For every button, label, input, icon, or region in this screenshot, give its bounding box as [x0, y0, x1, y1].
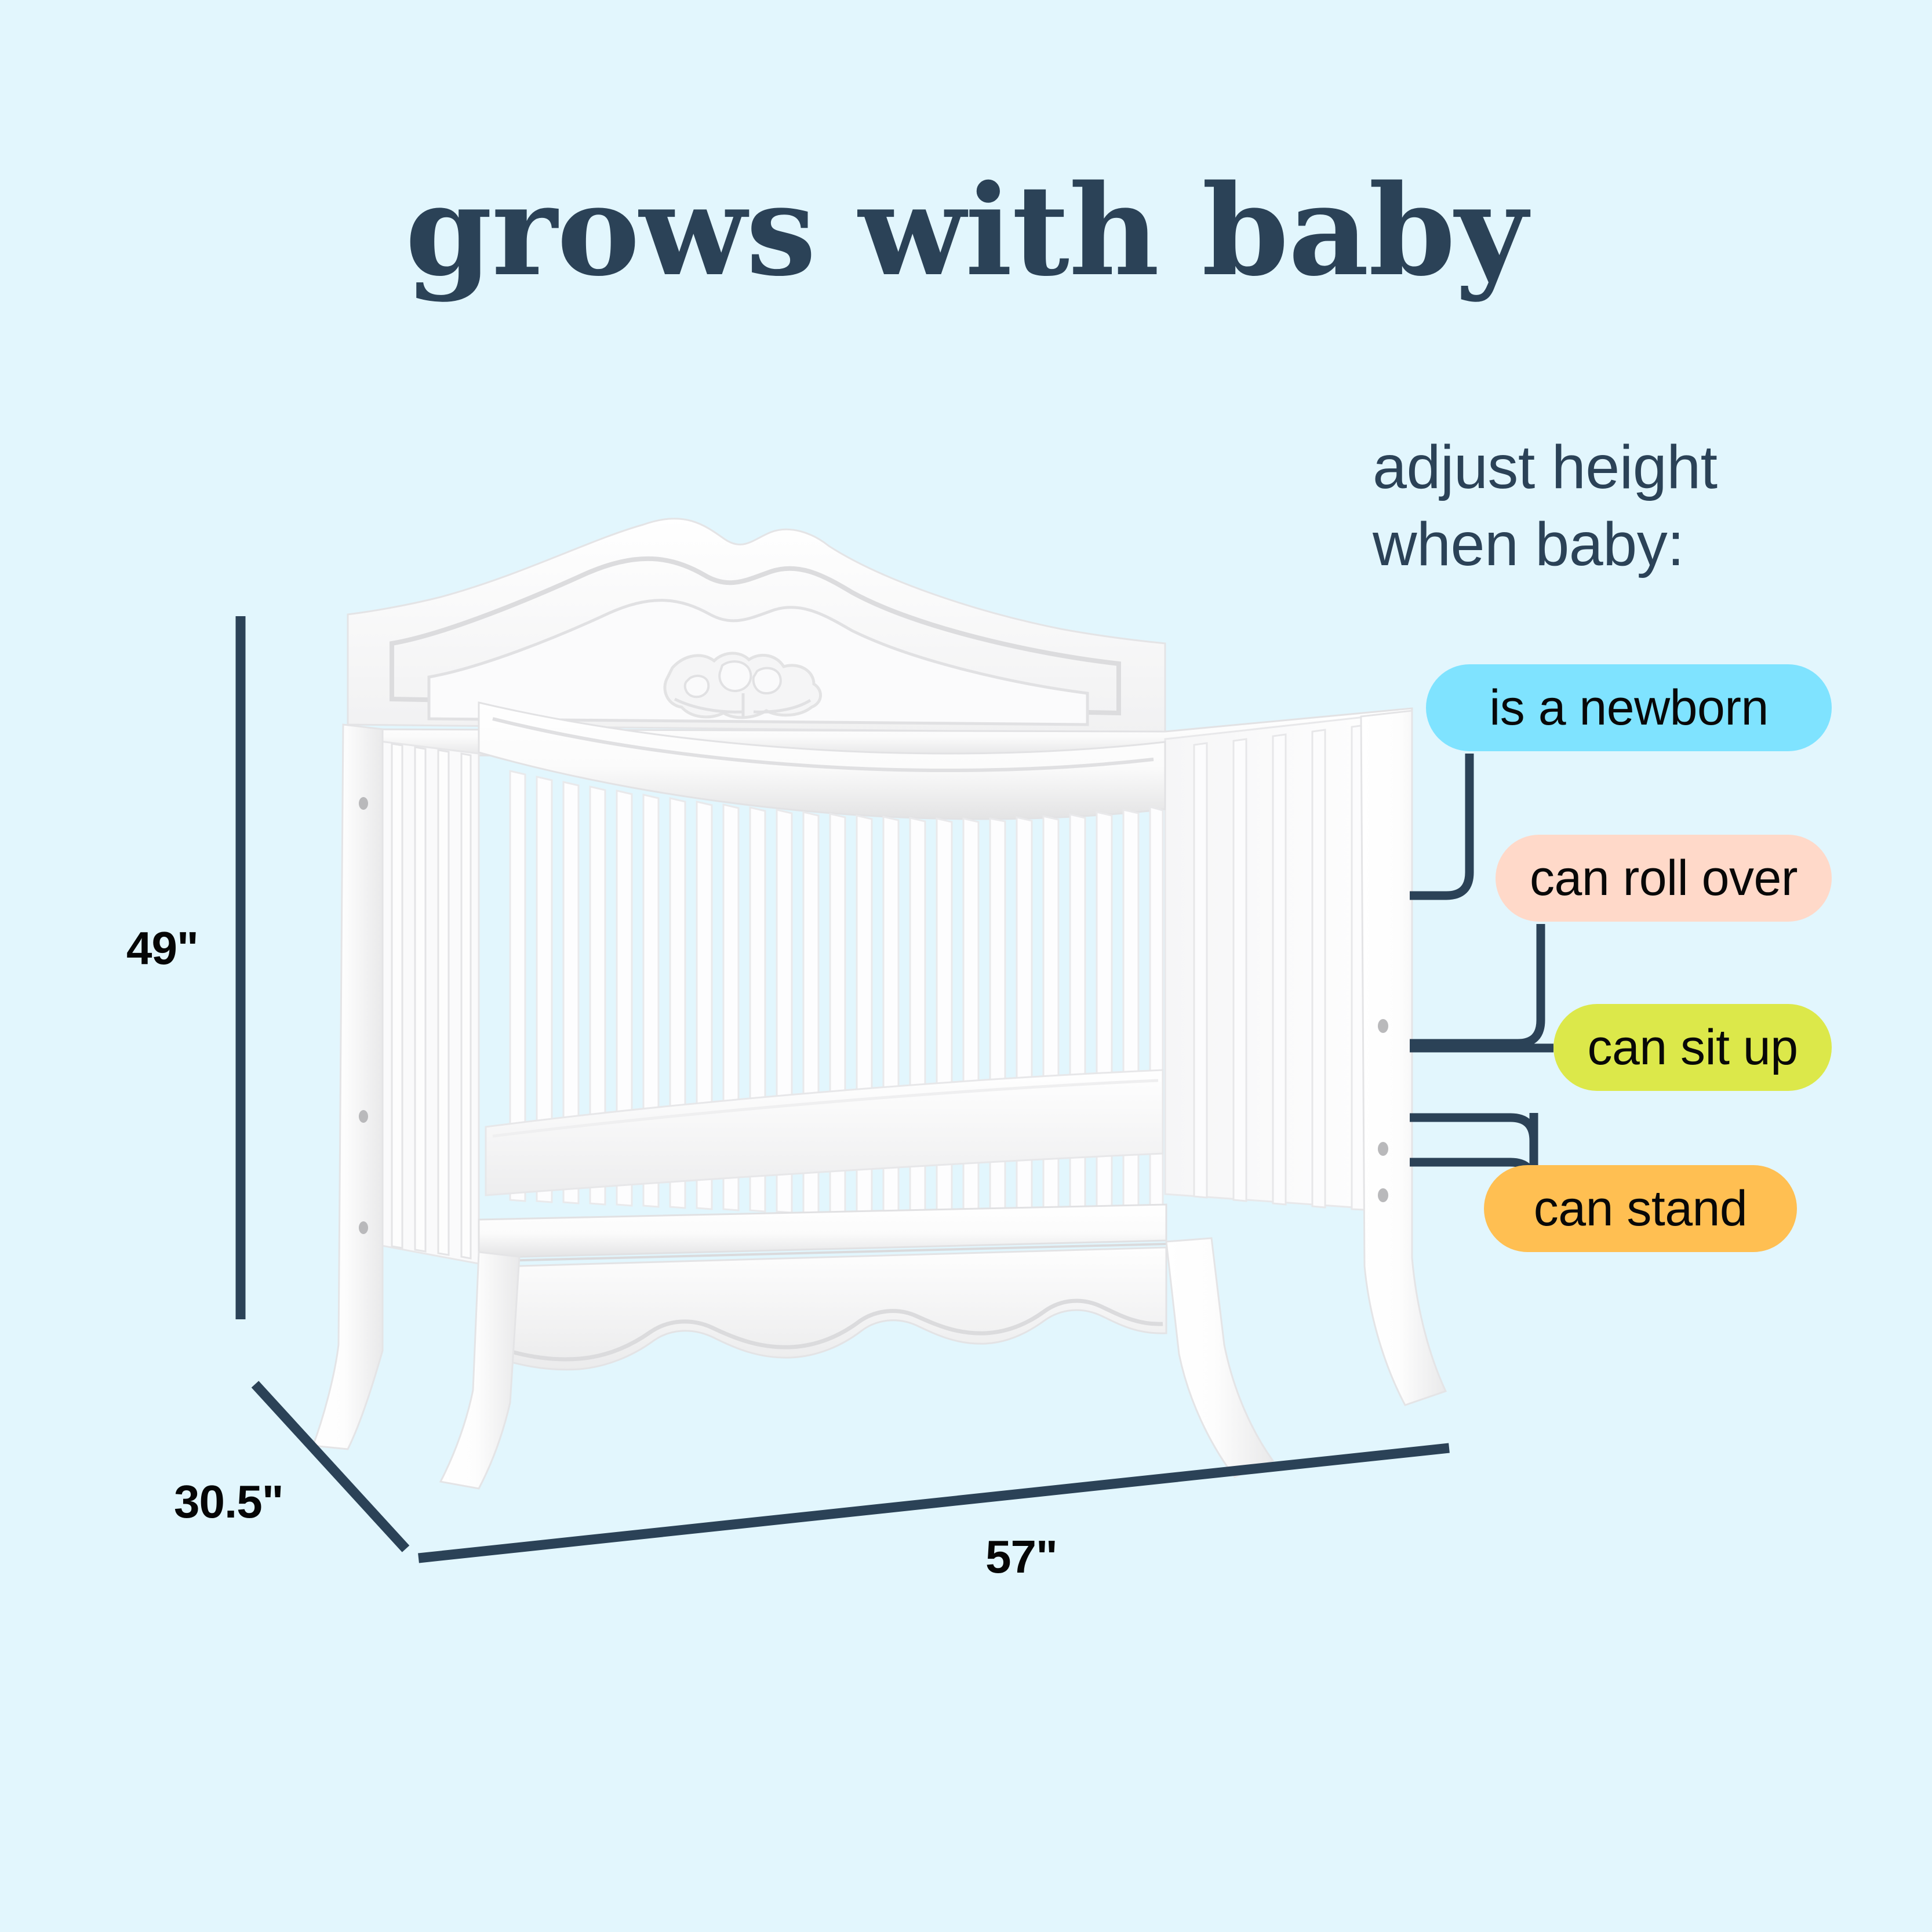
dimension-label-height: 49" [126, 922, 198, 975]
badge-label: can stand [1534, 1180, 1747, 1238]
crib-post-back-right [1361, 711, 1446, 1405]
infographic-canvas: grows with baby adjust height when baby: [0, 0, 1932, 1932]
crib-mattress [486, 1070, 1163, 1195]
illustration-layer [0, 0, 1932, 1932]
connector-newborn [1410, 754, 1469, 896]
dimension-label-width: 57" [985, 1530, 1057, 1584]
dimension-line-width [419, 1448, 1449, 1558]
badge-label: can roll over [1530, 850, 1798, 907]
crib-leg-front-left [441, 1252, 519, 1489]
crib-leg-front-right [1166, 1238, 1273, 1477]
badge-is-a-newborn[interactable]: is a newborn [1426, 664, 1832, 751]
badge-can-stand[interactable]: can stand [1484, 1165, 1797, 1252]
dimension-label-depth: 30.5" [174, 1475, 283, 1529]
badge-label: is a newborn [1489, 679, 1769, 737]
crib-headboard [348, 519, 1165, 733]
badge-can-roll-over[interactable]: can roll over [1496, 835, 1832, 922]
crib-post-left [313, 725, 383, 1449]
badge-can-sit-up[interactable]: can sit up [1553, 1004, 1832, 1091]
crib-decorative-skirt [479, 1247, 1166, 1370]
connector-rollover [1410, 924, 1541, 1043]
badge-label: can sit up [1587, 1019, 1798, 1076]
crib-illustration [313, 519, 1446, 1489]
